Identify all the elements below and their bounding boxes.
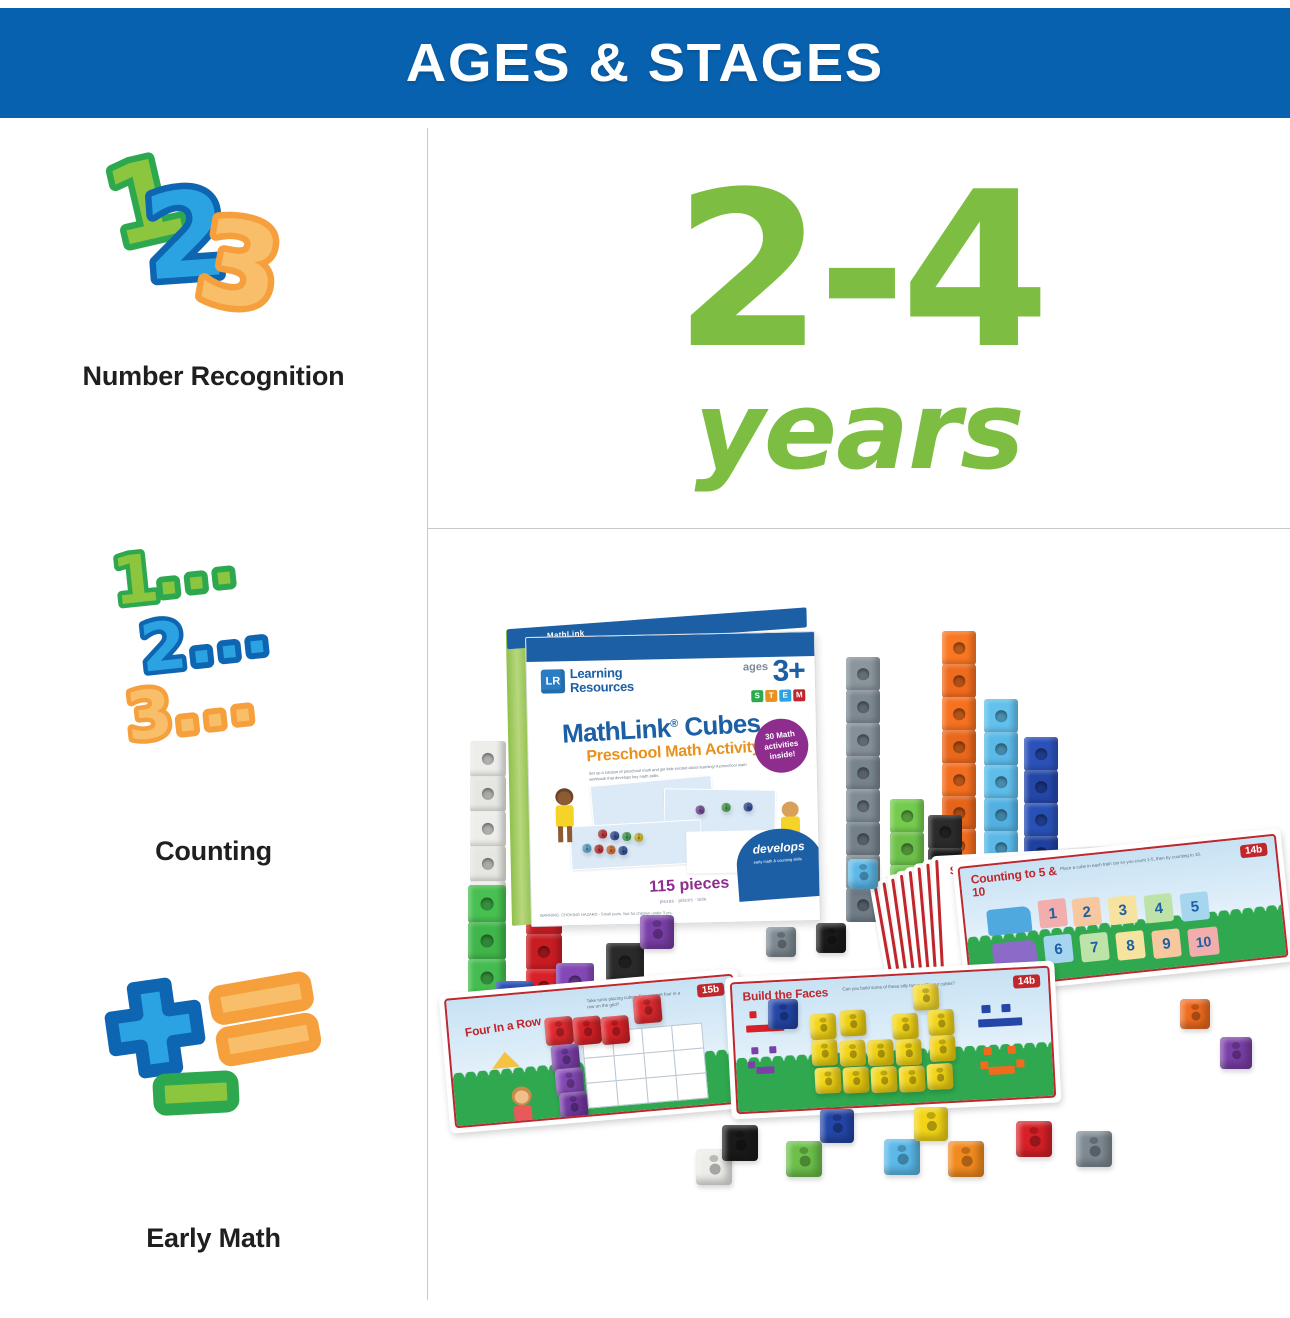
page-header-banner: AGES & STAGES <box>0 8 1290 118</box>
train-car: 6 <box>1043 934 1074 965</box>
red-cube-on-card <box>572 1015 602 1045</box>
yellow-cube-on-card <box>811 1039 838 1066</box>
loose-cube-black <box>816 923 846 953</box>
math-symbols-svg <box>89 968 339 1148</box>
stem-badge: S T E M <box>743 689 805 702</box>
ages-word-label: ages <box>743 661 768 674</box>
box-mini-cube <box>634 833 643 842</box>
skills-column: 1 2 3 Number Recognition 1 <box>0 128 427 1318</box>
yellow-cube-on-card <box>912 984 939 1011</box>
stem-letter-m: M <box>793 689 805 701</box>
skill-item-number-recognition: 1 2 3 Number Recognition <box>0 142 427 394</box>
yellow-cube-on-card <box>814 1067 841 1094</box>
counting-icon-svg: 1 2 3 <box>89 543 339 773</box>
box-mini-cube <box>610 831 619 840</box>
train-car: 5 <box>1179 891 1210 922</box>
age-range-value: 2-4 <box>428 163 1290 378</box>
loose-cube-black <box>722 1125 758 1161</box>
stem-letter-e: E <box>779 690 791 702</box>
box-kid-girl <box>547 788 582 847</box>
train-car: 9 <box>1151 928 1182 959</box>
math-symbols-icon <box>89 968 339 1168</box>
loose-cube-blue <box>768 999 798 1029</box>
train-car: 2 <box>1071 896 1102 927</box>
loose-cube-gray <box>1076 1131 1112 1167</box>
loose-cube-purple <box>1220 1037 1252 1069</box>
card-number-badge: 14b <box>1013 974 1041 988</box>
page-title: AGES & STAGES <box>406 32 884 94</box>
pixel-face-purple <box>747 1046 788 1074</box>
minus-sign-icon <box>158 1076 233 1110</box>
loose-cube-green <box>786 1141 822 1177</box>
train-car: 1 <box>1037 898 1068 929</box>
loose-cube-orange <box>948 1141 984 1177</box>
skill-label-number-recognition: Number Recognition <box>0 360 427 394</box>
card-kid-girl <box>506 1085 539 1127</box>
lr-cube-icon: LR <box>541 669 565 693</box>
yellow-cube-on-card <box>870 1066 897 1093</box>
yellow-cube-on-card <box>926 1063 953 1090</box>
age-range-panel: 2-4 years <box>428 128 1290 528</box>
purple-cube-on-card <box>559 1091 589 1121</box>
card-inner: Build the Faces Can you build some of th… <box>730 966 1056 1115</box>
loose-cube-orange <box>1180 999 1210 1029</box>
piece-count-sublabel: piezas · pièces · teile <box>659 897 706 906</box>
yellow-cube-on-card <box>839 1009 866 1036</box>
box-mini-cube <box>594 844 603 853</box>
yellow-cube-on-card <box>839 1039 866 1066</box>
loose-cube-purple <box>640 915 674 949</box>
box-mini-cube <box>722 803 731 812</box>
pixel-face-blue <box>977 1003 1026 1031</box>
develops-label: develops <box>752 839 805 857</box>
skill-label-early-math: Early Math <box>0 1222 427 1256</box>
train-car: 7 <box>1079 932 1110 963</box>
stem-letter-t: T <box>765 690 777 702</box>
yellow-cube-on-card <box>867 1039 894 1066</box>
red-cube-on-card <box>632 994 662 1024</box>
yellow-cube-on-card <box>898 1065 925 1092</box>
numbers-123-svg: 1 2 3 <box>89 142 339 342</box>
red-cube-on-card <box>544 1016 574 1046</box>
skill-item-early-math: Early Math <box>0 968 427 1256</box>
pixel-face-orange <box>980 1045 1033 1078</box>
box-mini-cube <box>598 829 607 838</box>
stem-letter-s: S <box>751 690 763 702</box>
loose-cube-blue <box>820 1109 854 1143</box>
product-box: MathLink LR Learning Resources ages 3+ S… <box>525 631 821 927</box>
yellow-cube-on-card <box>842 1066 869 1093</box>
box-mini-cube <box>582 844 591 853</box>
train-car: 4 <box>1143 893 1174 924</box>
box-mini-cube <box>622 832 631 841</box>
loose-cube-lightblue <box>884 1139 920 1175</box>
train-car: 8 <box>1115 930 1146 961</box>
counting-123-dots-icon: 1 2 3 <box>89 543 339 783</box>
box-front-face: LR Learning Resources ages 3+ S T E M Ma… <box>525 631 821 927</box>
loose-cube-lightblue <box>848 859 878 889</box>
yellow-cube-on-card <box>810 1013 837 1040</box>
age-unit-label: years <box>428 378 1290 486</box>
plus-sign-icon <box>107 981 202 1076</box>
box-mini-cube <box>696 805 705 814</box>
develops-sublabel: early math & counting skills <box>753 856 805 865</box>
yellow-cube-on-card <box>927 1009 954 1036</box>
learning-resources-logo: LR Learning Resources <box>541 666 634 695</box>
four-in-a-row-card: Four In a Row Take turns placing cubes. … <box>438 968 749 1134</box>
train-car: 10 <box>1187 926 1220 957</box>
kite-icon <box>491 1051 520 1069</box>
train-car: 3 <box>1107 895 1138 926</box>
yellow-cube-on-card <box>895 1039 922 1066</box>
build-the-faces-card: Build the Faces Can you build some of th… <box>725 960 1062 1119</box>
ages-number: 3+ <box>772 654 805 689</box>
train-engine-blue <box>986 906 1032 936</box>
loose-cube-red <box>1016 1121 1052 1157</box>
loose-cube-yellow <box>914 1107 948 1141</box>
skill-item-counting: 1 2 3 <box>0 543 427 869</box>
card-inner: Four In a Row Take turns placing cubes. … <box>444 974 744 1129</box>
skill-label-counting: Counting <box>0 835 427 869</box>
yellow-cube-on-card <box>929 1035 956 1062</box>
product-photo-panel: MathLink LR Learning Resources ages 3+ S… <box>428 529 1290 1318</box>
numbers-123-icon: 1 2 3 <box>89 142 339 342</box>
lightblue-tower <box>984 699 1018 864</box>
ages-badge: ages 3+ S T E M <box>743 654 806 702</box>
piece-count-label: 115 pieces <box>649 874 730 896</box>
equals-sign-icon <box>213 976 316 1061</box>
box-mini-cube <box>606 845 615 854</box>
loose-cube-gray <box>766 927 796 957</box>
brand-name: Learning Resources <box>570 666 634 695</box>
yellow-cube-on-card <box>892 1013 919 1040</box>
box-mini-cube <box>618 846 627 855</box>
svg-text:3: 3 <box>122 675 176 756</box>
card-number-badge: 15b <box>696 982 724 997</box>
red-cube-on-card <box>600 1015 630 1045</box>
box-mini-cube <box>744 802 753 811</box>
